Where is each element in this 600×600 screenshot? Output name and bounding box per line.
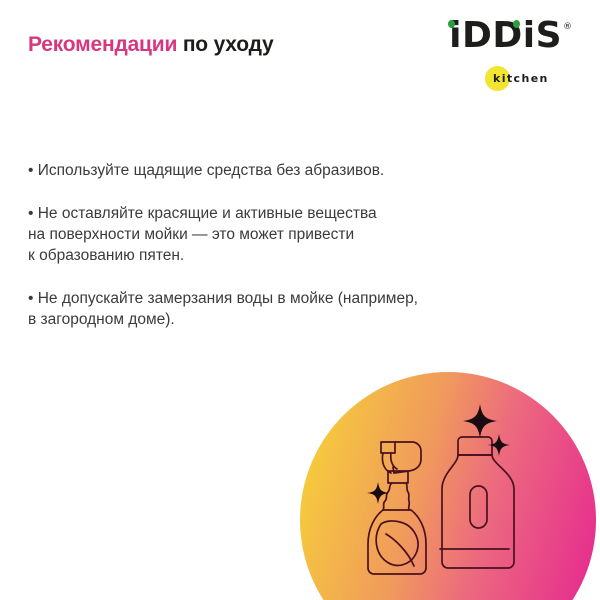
page-title: Рекомендации по уходу [28,33,273,57]
sparkles-group [367,404,510,504]
brand-dot-right-icon [513,20,520,28]
care-instructions-list: • Используйте щадящие средства без абраз… [28,160,528,330]
brand-wordmark-text: iDDiS [449,18,562,54]
page-header: Рекомендации по уходу iDDiS ® kitchen [0,0,600,110]
page-title-accent: Рекомендации [28,33,177,56]
sparkle-large-icon [463,404,497,438]
brand-dot-left-icon [448,20,455,28]
spray-bottle-icon [368,442,426,574]
care-instructions-page: Рекомендации по уходу iDDiS ® kitchen • … [0,0,600,600]
detergent-bottle-icon [440,437,514,568]
care-list-item: • Не допускайте замерзания воды в мойке … [28,288,528,330]
page-title-plain: по уходу [177,33,273,56]
registered-trademark-icon: ® [563,22,572,32]
gradient-circle-backdrop [300,372,596,600]
care-list-item: • Не оставляйте красящие и активные веще… [28,203,528,266]
care-list-item: • Используйте щадящие средства без абраз… [28,160,528,181]
sparkle-medium-icon [488,434,510,456]
sparkle-small-icon [367,482,389,504]
bottle-line-art [368,437,514,574]
brand-sublabel: kitchen [485,66,567,92]
brand-sublabel-text: kitchen [493,72,549,85]
brand-logo: iDDiS ® kitchen [440,18,572,96]
